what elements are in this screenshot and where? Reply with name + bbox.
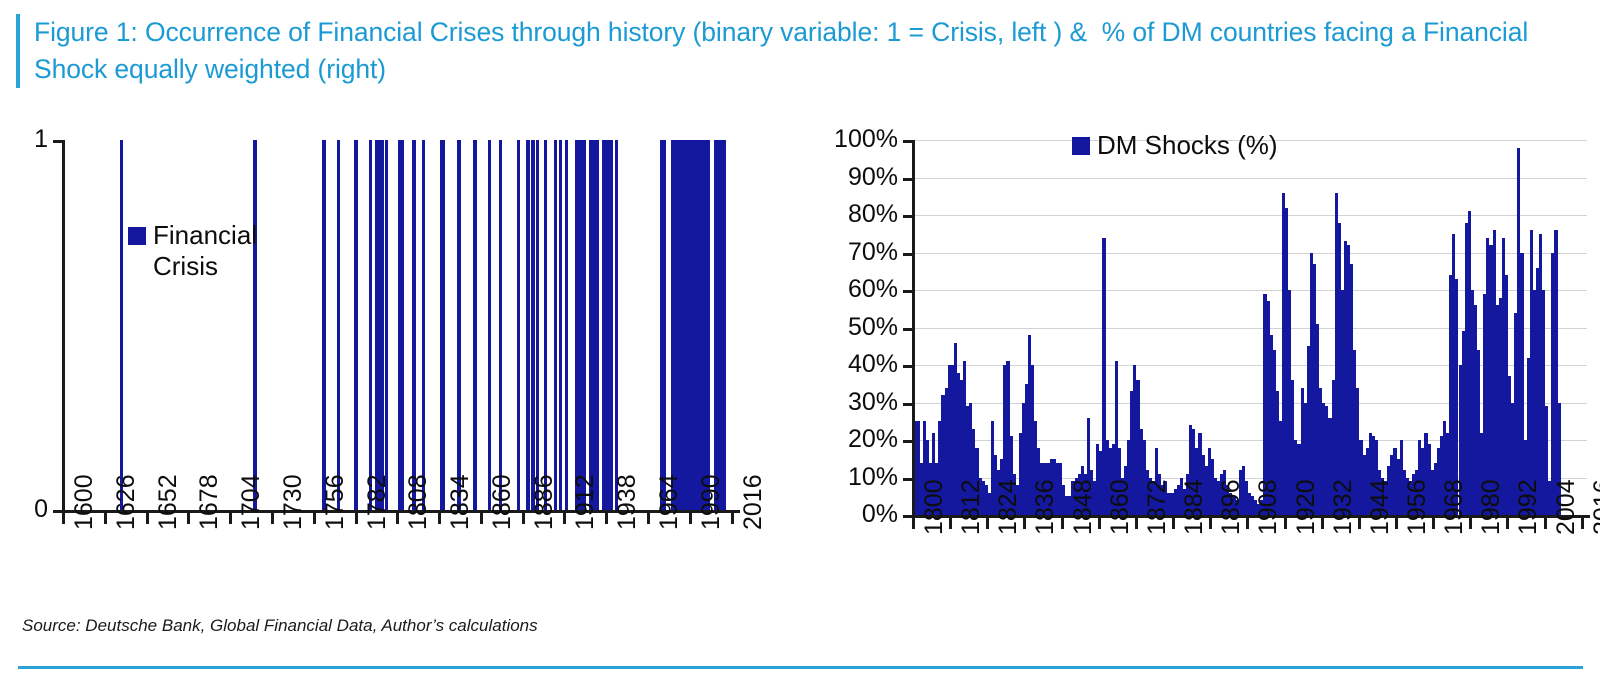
x-tick-label: 1812 <box>959 479 984 535</box>
x-tick-label: 1600 <box>72 474 97 530</box>
bar <box>559 140 562 510</box>
x-tick-label: 1756 <box>323 474 348 530</box>
y-tick-label: 0 <box>26 497 48 522</box>
x-tick <box>480 513 483 524</box>
x-tick-label: 1938 <box>615 474 640 530</box>
y-axis-line <box>912 140 915 517</box>
y-tick-label: 60% <box>812 277 898 302</box>
x-tick <box>146 513 149 524</box>
bar <box>441 140 444 510</box>
bar <box>385 140 388 510</box>
x-tick-label: 2004 <box>1554 479 1579 535</box>
x-tick <box>563 513 566 524</box>
y-tick-label: 10% <box>812 465 898 490</box>
bar <box>595 140 598 510</box>
x-tick-label: 1860 <box>490 474 515 530</box>
x-tick <box>1284 518 1287 529</box>
x-tick-label: 1980 <box>1479 479 1504 535</box>
x-tick-label: 1886 <box>532 474 557 530</box>
x-tick-label: 1956 <box>1405 479 1430 535</box>
chart-legend: DM Shocks (%) <box>1072 130 1278 161</box>
bar <box>554 140 557 510</box>
x-tick-label: 2016 <box>741 474 766 530</box>
x-tick <box>1172 518 1175 529</box>
bar <box>120 140 123 510</box>
bar <box>610 140 613 510</box>
plot-area <box>62 140 737 510</box>
y-tick <box>903 515 912 518</box>
bar <box>615 140 618 510</box>
x-tick-label: 1932 <box>1331 479 1356 535</box>
y-tick-label: 40% <box>812 352 898 377</box>
y-tick-label: 0% <box>812 502 898 527</box>
x-tick-label: 1968 <box>1442 479 1467 535</box>
x-tick <box>104 513 107 524</box>
y-tick-label: 70% <box>812 240 898 265</box>
x-tick-label: 1808 <box>406 474 431 530</box>
bar <box>354 140 357 510</box>
bar <box>488 140 491 510</box>
x-tick-label: 1730 <box>281 474 306 530</box>
x-tick <box>1432 518 1435 529</box>
x-tick <box>1023 518 1026 529</box>
x-tick <box>313 513 316 524</box>
x-tick <box>1246 518 1249 529</box>
bar <box>322 140 325 510</box>
x-tick <box>355 513 358 524</box>
x-tick <box>731 513 734 524</box>
x-tick-label: 1872 <box>1145 479 1170 535</box>
bar <box>663 140 666 510</box>
chart-legend: Financial Crisis <box>128 220 257 282</box>
x-tick-label: 1964 <box>657 474 682 530</box>
x-tick-label: 1896 <box>1219 479 1244 535</box>
bar <box>531 140 534 510</box>
x-tick-label: 1824 <box>996 479 1021 535</box>
gridline <box>912 215 1587 216</box>
x-tick <box>187 513 190 524</box>
bar <box>253 140 256 510</box>
x-tick <box>1098 518 1101 529</box>
x-tick-label: 1834 <box>448 474 473 530</box>
x-tick-label: 1860 <box>1108 479 1133 535</box>
x-tick <box>689 513 692 524</box>
x-tick-label: 1800 <box>922 479 947 535</box>
x-tick <box>605 513 608 524</box>
bar <box>473 140 476 510</box>
x-tick <box>438 513 441 524</box>
bar <box>499 140 502 510</box>
x-tick-label: 1992 <box>1516 479 1541 535</box>
bar <box>457 140 460 510</box>
figure-container: Figure 1: Occurrence of Financial Crises… <box>0 0 1600 697</box>
x-tick <box>1358 518 1361 529</box>
x-tick <box>912 518 915 529</box>
x-tick <box>271 513 274 524</box>
x-tick <box>1581 518 1584 529</box>
y-tick <box>903 440 912 443</box>
bar <box>369 140 372 510</box>
bar <box>380 140 383 510</box>
x-tick <box>1469 518 1472 529</box>
y-tick <box>903 328 912 331</box>
y-tick <box>903 403 912 406</box>
x-tick <box>647 513 650 524</box>
x-tick-label: 1990 <box>699 474 724 530</box>
x-tick <box>229 513 232 524</box>
y-tick-label: 50% <box>812 315 898 340</box>
x-tick-label: 1836 <box>1033 479 1058 535</box>
y-tick <box>53 140 62 143</box>
legend-swatch <box>1072 137 1090 155</box>
x-tick <box>1544 518 1547 529</box>
x-tick-label: 1920 <box>1294 479 1319 535</box>
legend-label: Financial Crisis <box>153 220 257 282</box>
x-tick <box>1061 518 1064 529</box>
plot-area <box>912 140 1587 515</box>
x-tick <box>62 513 65 524</box>
bottom-divider <box>18 666 1583 669</box>
x-tick-label: 2016 <box>1591 479 1600 535</box>
bar <box>722 140 725 510</box>
x-tick-label: 1912 <box>573 474 598 530</box>
x-tick-label: 1884 <box>1182 479 1207 535</box>
y-tick-label: 100% <box>812 127 898 152</box>
chart-dm-shocks: 100%90%80%70%60%50%40%30%20%10%0%1800181… <box>800 120 1600 620</box>
figure-title-block: Figure 1: Occurrence of Financial Crises… <box>16 14 1576 88</box>
x-tick-label: 1782 <box>365 474 390 530</box>
y-tick-label: 1 <box>26 127 48 152</box>
x-tick <box>1209 518 1212 529</box>
y-tick-label: 80% <box>812 202 898 227</box>
bar <box>337 140 340 510</box>
y-tick <box>903 140 912 143</box>
bar <box>526 140 529 510</box>
x-tick-label: 1908 <box>1256 479 1281 535</box>
y-tick-label: 30% <box>812 390 898 415</box>
legend-label: DM Shocks (%) <box>1097 130 1278 161</box>
chart-financial-crisis: 1016001626165216781704173017561782180818… <box>0 120 790 620</box>
x-tick <box>986 518 989 529</box>
y-tick <box>903 478 912 481</box>
bar <box>517 140 520 510</box>
x-tick <box>1506 518 1509 529</box>
bar <box>536 140 539 510</box>
x-tick-label: 1944 <box>1368 479 1393 535</box>
x-tick-label: 1704 <box>239 474 264 530</box>
bar <box>565 140 568 510</box>
x-tick <box>1135 518 1138 529</box>
x-tick <box>396 513 399 524</box>
y-tick <box>903 178 912 181</box>
source-note: Source: Deutsche Bank, Global Financial … <box>22 616 538 636</box>
y-tick <box>53 510 62 513</box>
y-axis-line <box>62 140 65 512</box>
x-tick-label: 1678 <box>197 474 222 530</box>
bar <box>401 140 404 510</box>
x-tick-label: 1652 <box>156 474 181 530</box>
bar <box>583 140 586 510</box>
y-tick <box>903 365 912 368</box>
y-tick <box>903 290 912 293</box>
gridline <box>912 178 1587 179</box>
y-tick <box>903 215 912 218</box>
x-tick-label: 1626 <box>114 474 139 530</box>
bar <box>412 140 415 510</box>
x-tick <box>949 518 952 529</box>
x-tick <box>1395 518 1398 529</box>
bar <box>544 140 547 510</box>
x-tick-label: 1848 <box>1071 479 1096 535</box>
y-tick-label: 90% <box>812 165 898 190</box>
y-tick-label: 20% <box>812 427 898 452</box>
y-tick <box>903 253 912 256</box>
x-tick <box>1321 518 1324 529</box>
bar <box>422 140 425 510</box>
bar <box>706 140 709 510</box>
x-tick <box>522 513 525 524</box>
legend-swatch <box>128 227 146 245</box>
page-title: Figure 1: Occurrence of Financial Crises… <box>34 14 1576 88</box>
